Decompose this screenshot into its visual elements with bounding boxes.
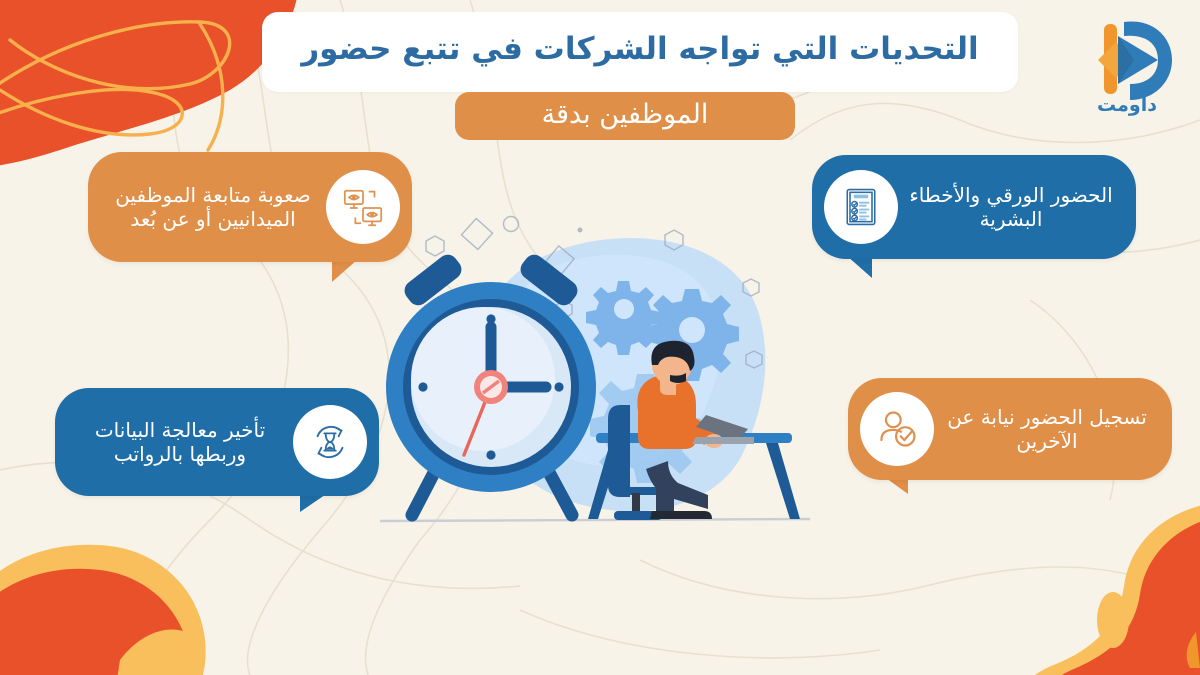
user-check-icon xyxy=(860,392,934,466)
infographic-canvas: التحديات التي تواجه الشركات في تتبع حضور… xyxy=(0,0,1200,675)
bubble-proxy-checkin[interactable]: تسجيل الحضور نيابة عن الآخرين xyxy=(848,378,1172,480)
bubble-field-employees[interactable]: صعوبة متابعة الموظفين الميدانيين أو عن ب… xyxy=(88,152,412,262)
gear-small xyxy=(586,281,661,355)
brand-logo[interactable]: داومت xyxy=(1072,8,1182,118)
blob-bottom-right xyxy=(1032,512,1200,675)
bubble-label-field-employees: صعوبة متابعة الموظفين الميدانيين أو عن ب… xyxy=(100,183,326,232)
logo-wordmark: داومت xyxy=(1072,94,1182,116)
page-subtitle: الموظفين بدقة xyxy=(542,101,709,131)
oval-bottom-right xyxy=(1097,592,1129,648)
blob-bottom-left xyxy=(0,569,190,675)
remote-monitoring-icon xyxy=(326,170,400,244)
bubble-data-delay[interactable]: تأخير معالجة البيانات وربطها بالرواتب xyxy=(55,388,379,496)
ground-line xyxy=(380,519,810,521)
subtitle-banner: الموظفين بدقة xyxy=(455,92,795,140)
checklist-clipboard-icon xyxy=(824,170,898,244)
bubble-label-proxy-checkin: تسجيل الحضور نيابة عن الآخرين xyxy=(934,405,1160,454)
leaf-bottom-left xyxy=(116,629,203,675)
bubble-label-data-delay: تأخير معالجة البيانات وربطها بالرواتب xyxy=(67,418,293,467)
blob-bottom-right-outline xyxy=(1010,500,1200,675)
blob-bottom-left-outline xyxy=(0,545,206,675)
wedge-mid-right xyxy=(1187,632,1200,668)
bubble-label-paper-attendance: الحضور الورقي والأخطاء البشرية xyxy=(898,183,1124,232)
page-title: التحديات التي تواجه الشركات في تتبع حضور xyxy=(301,32,978,72)
title-banner: التحديات التي تواجه الشركات في تتبع حضور xyxy=(262,12,1018,92)
bubble-paper-attendance[interactable]: الحضور الورقي والأخطاء البشرية xyxy=(812,155,1136,259)
hourglass-refresh-icon xyxy=(293,405,367,479)
blob-top-left xyxy=(0,0,300,167)
central-illustration xyxy=(370,215,840,575)
